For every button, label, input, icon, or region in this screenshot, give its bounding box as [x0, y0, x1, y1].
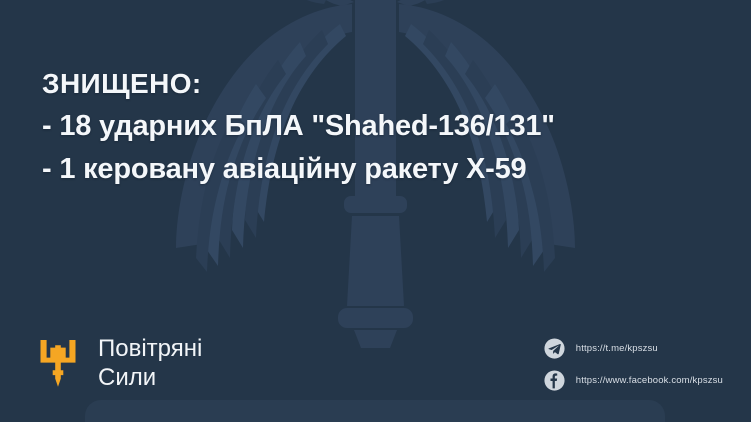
telegram-url[interactable]: https://t.me/kpszsu — [576, 343, 658, 354]
bottom-accent-band — [85, 400, 665, 422]
brand-name-line-2: Сили — [98, 363, 202, 392]
social-link-facebook[interactable]: https://www.facebook.com/kpszsu — [544, 366, 723, 395]
headline-block: ЗНИЩЕНО: - 18 ударних БпЛА "Shahed-136/1… — [42, 62, 555, 191]
facebook-url[interactable]: https://www.facebook.com/kpszsu — [576, 375, 723, 386]
air-force-report-poster: ЗНИЩЕНО: - 18 ударних БпЛА "Shahed-136/1… — [0, 0, 751, 422]
headline-title: ЗНИЩЕНО: — [42, 62, 555, 105]
headline-item-2: - 1 керовану авіаційну ракету Х-59 — [42, 148, 555, 191]
social-links: https://t.me/kpszsu https://www.facebook… — [544, 334, 723, 398]
ukrainian-trident-icon — [40, 340, 76, 387]
headline-item-1: - 18 ударних БпЛА "Shahed-136/131" — [42, 105, 555, 148]
brand-name: Повітряні Сили — [98, 334, 202, 392]
facebook-icon[interactable] — [544, 370, 565, 391]
brand-lockup: Повітряні Сили — [40, 334, 202, 392]
social-link-telegram[interactable]: https://t.me/kpszsu — [544, 334, 723, 363]
telegram-icon[interactable] — [544, 338, 565, 359]
brand-name-line-1: Повітряні — [98, 334, 202, 363]
